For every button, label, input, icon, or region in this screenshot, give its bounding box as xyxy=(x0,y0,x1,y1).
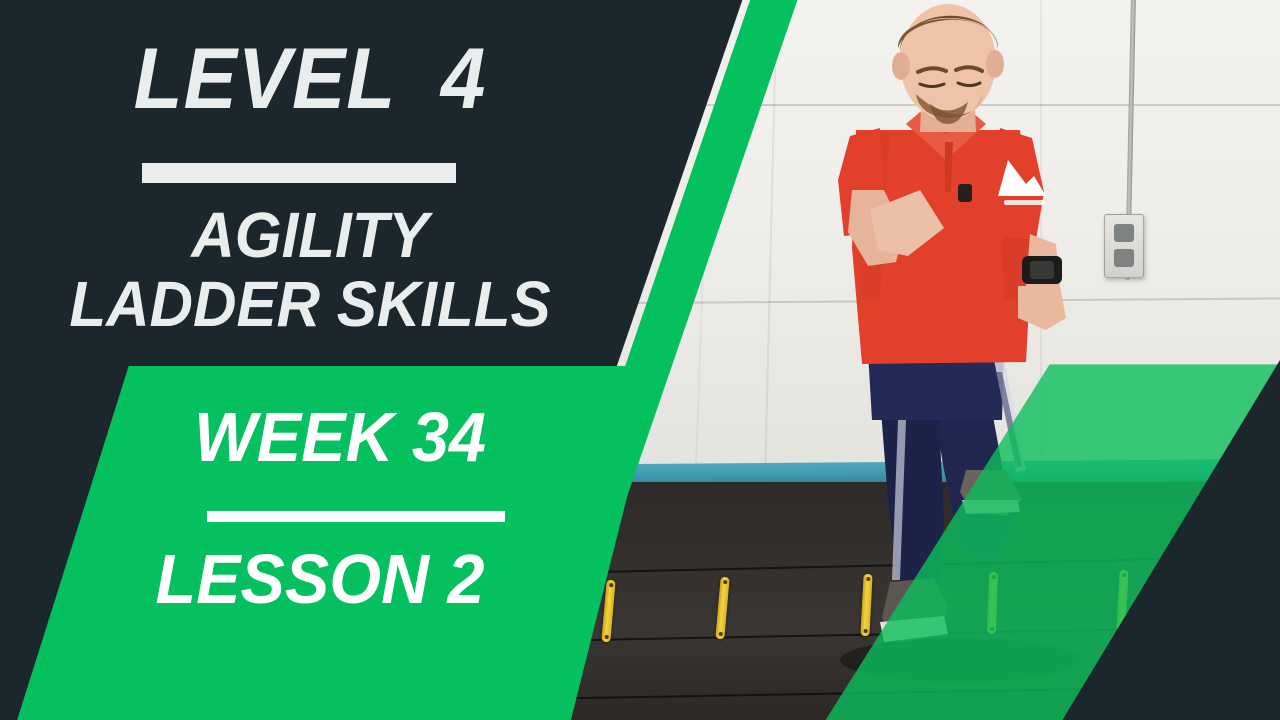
video-thumbnail: LEVEL 4 AGILITY LADDER SKILLS WEEK 34 LE… xyxy=(0,0,1280,720)
